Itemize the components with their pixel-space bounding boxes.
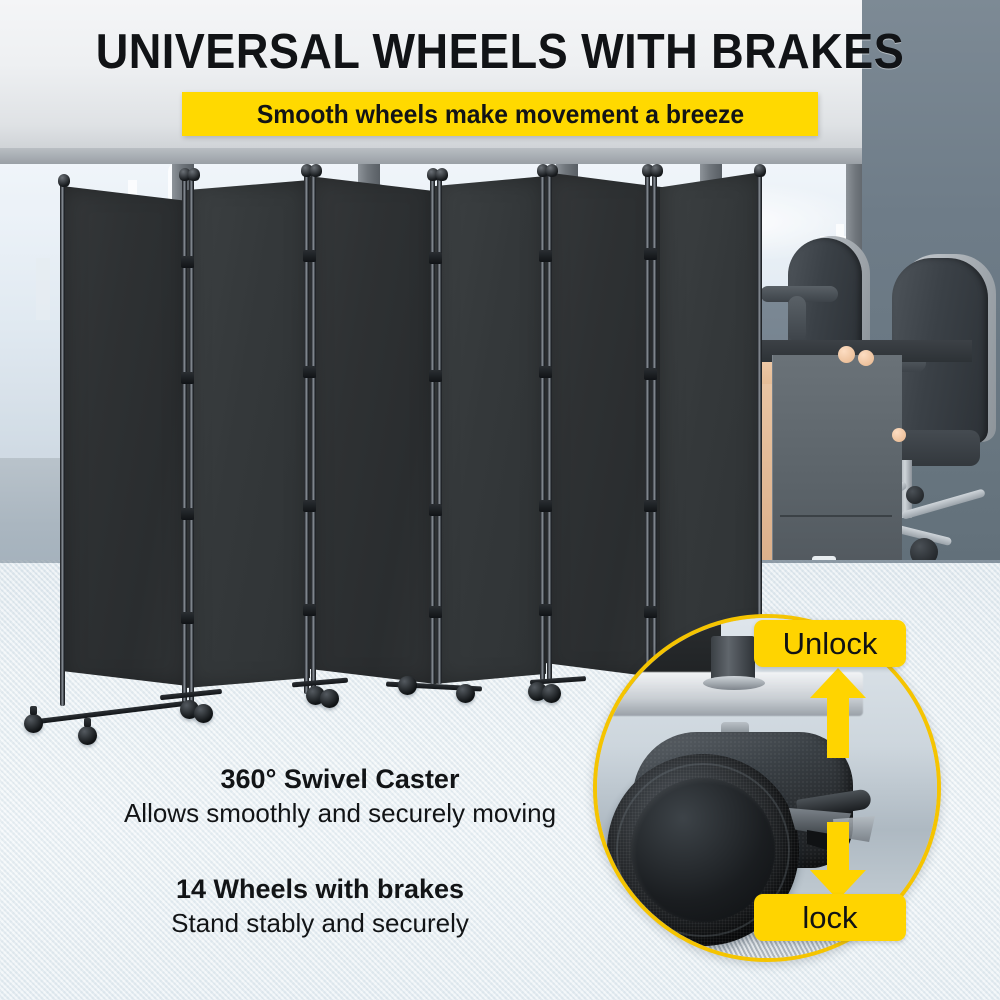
- divider-hinge: [644, 606, 657, 618]
- caster-wheel: [194, 704, 213, 723]
- caster-wheel: [320, 689, 339, 708]
- caster-wheel: [78, 726, 97, 745]
- divider-hinge: [539, 500, 552, 512]
- divider-hinge: [539, 604, 552, 616]
- divider-hinge: [303, 366, 316, 378]
- divider-post: [60, 182, 65, 706]
- unlock-badge: Unlock: [754, 620, 906, 667]
- post-cap-icon: [546, 164, 558, 177]
- caster-wheel: [456, 684, 475, 703]
- divider-hinge: [181, 256, 194, 268]
- divider-panel: [434, 176, 546, 684]
- caster-wheel: [398, 676, 417, 695]
- divider-hinge: [429, 504, 442, 516]
- divider-hinge: [429, 606, 442, 618]
- divider-hinge: [181, 372, 194, 384]
- post-cap-icon: [651, 164, 663, 177]
- unlock-label: Unlock: [783, 626, 878, 662]
- divider-hinge: [539, 366, 552, 378]
- arrow-down-icon: [810, 822, 866, 900]
- caster-stem: [30, 706, 37, 715]
- lock-badge: lock: [754, 894, 906, 941]
- post-cap-icon: [310, 164, 322, 177]
- closeup-washer: [703, 676, 765, 690]
- post-cap-icon: [58, 174, 70, 187]
- feature-wheels-brakes: 14 Wheels with brakes Stand stably and s…: [40, 872, 600, 940]
- divider-hinge: [303, 500, 316, 512]
- feature-heading: 360° Swivel Caster: [40, 762, 640, 796]
- caster-wheel: [542, 684, 561, 703]
- divider-hinge: [429, 370, 442, 382]
- divider-panel: [660, 172, 762, 684]
- divider-hinge: [429, 252, 442, 264]
- divider-foot-bar: [36, 701, 185, 724]
- feature-description: Allows smoothly and securely moving: [40, 796, 640, 830]
- divider-hinge: [181, 612, 194, 624]
- post-cap-icon: [436, 168, 448, 181]
- post-cap-icon: [188, 168, 200, 181]
- feature-heading: 14 Wheels with brakes: [40, 872, 600, 906]
- lock-label: lock: [802, 900, 857, 936]
- caster-wheel: [24, 714, 43, 733]
- subtitle-banner: Smooth wheels make movement a breeze: [182, 92, 818, 136]
- divider-hinge: [644, 500, 657, 512]
- post-cap-icon: [754, 164, 766, 177]
- divider-hinge: [303, 250, 316, 262]
- divider-hinge: [539, 250, 552, 262]
- divider-panel: [62, 186, 188, 686]
- arrow-up-icon: [810, 668, 866, 758]
- divider-hinge: [181, 508, 194, 520]
- page-title: UNIVERSAL WHEELS WITH BRAKES: [40, 24, 960, 80]
- feature-description: Stand stably and securely: [40, 906, 600, 940]
- caster-stem: [84, 718, 91, 727]
- feature-swivel-caster: 360° Swivel Caster Allows smoothly and s…: [40, 762, 640, 830]
- subtitle-text: Smooth wheels make movement a breeze: [256, 99, 743, 130]
- divider-hinge: [303, 604, 316, 616]
- divider-foot-bar: [292, 678, 348, 688]
- product-marketing-image: UNIVERSAL WHEELS WITH BRAKES Smooth whee…: [0, 0, 1000, 1000]
- divider-hinge: [644, 248, 657, 260]
- divider-panel: [186, 180, 310, 688]
- divider-hinge: [644, 368, 657, 380]
- divider-panel: [308, 176, 436, 684]
